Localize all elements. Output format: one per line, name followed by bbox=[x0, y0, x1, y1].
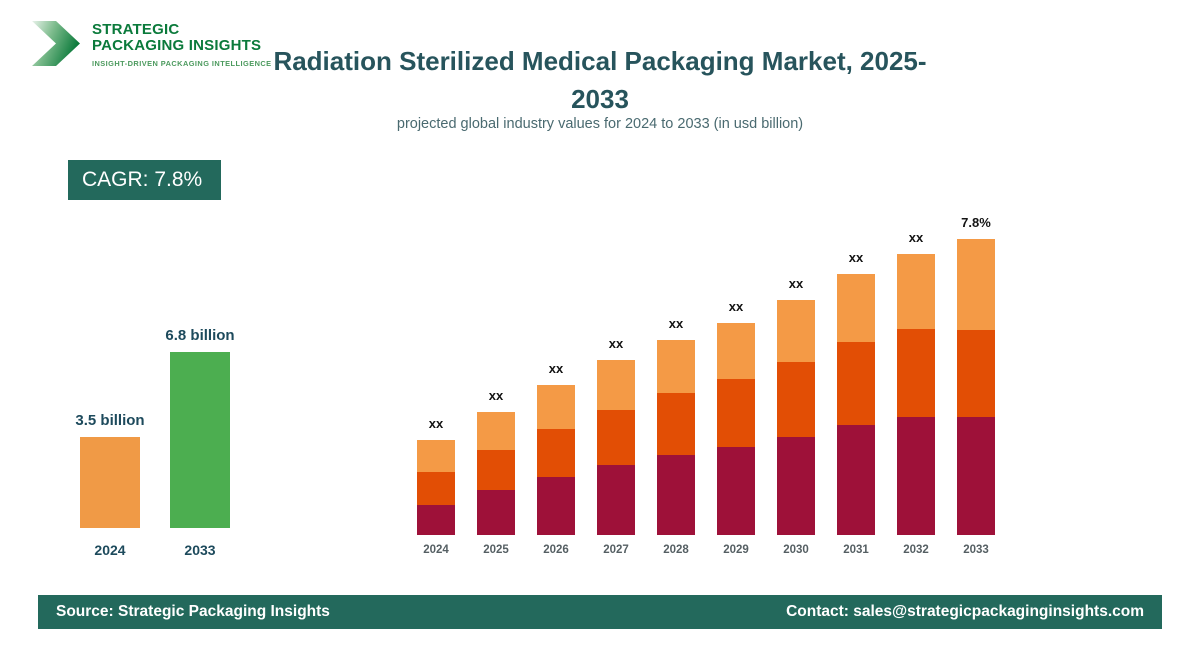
stacked-bar-2031 bbox=[837, 274, 875, 535]
bar-segment-segment-1-2025 bbox=[477, 490, 515, 535]
page-subtitle: projected global industry values for 202… bbox=[270, 116, 930, 132]
bar-segment-segment-1-2027 bbox=[597, 465, 635, 535]
bar-segment-segment-3-2024 bbox=[417, 440, 455, 472]
bar-segment-segment-3-2028 bbox=[657, 340, 695, 393]
bar-segment-segment-2-2025 bbox=[477, 450, 515, 490]
bar-segment-segment-3-2031 bbox=[837, 274, 875, 342]
bar-segment-segment-2-2033 bbox=[957, 330, 995, 417]
page-title: Radiation Sterilized Medical Packaging M… bbox=[270, 42, 930, 118]
bar-segment-segment-2-2031 bbox=[837, 342, 875, 425]
bar-segment-segment-2-2032 bbox=[897, 329, 935, 417]
mini-bar-year-2024: 2024 bbox=[80, 542, 140, 558]
stacked-bar-2027 bbox=[597, 360, 635, 535]
brand-name-line2: PACKAGING INSIGHTS bbox=[92, 38, 261, 54]
bar-segment-segment-2-2024 bbox=[417, 472, 455, 505]
bar-segment-segment-3-2027 bbox=[597, 360, 635, 410]
bar-segment-segment-1-2026 bbox=[537, 477, 575, 535]
stacked-bar-year-2029: 2029 bbox=[717, 544, 755, 556]
mini-bar-year-2033: 2033 bbox=[170, 542, 230, 558]
bar-segment-segment-2-2026 bbox=[537, 429, 575, 477]
stacked-bar-2028 bbox=[657, 340, 695, 535]
bar-segment-segment-1-2033 bbox=[957, 417, 995, 535]
bar-segment-segment-3-2026 bbox=[537, 385, 575, 429]
stacked-bar-2030 bbox=[777, 300, 815, 535]
stacked-bar-value-2028: xx bbox=[646, 316, 706, 331]
bar-segment-segment-1-2030 bbox=[777, 437, 815, 535]
stacked-bar-value-2031: xx bbox=[826, 250, 886, 265]
stacked-bar-year-2027: 2027 bbox=[597, 544, 635, 556]
infographic-root: STRATEGIC PACKAGING INSIGHTS INSIGHT-DRI… bbox=[0, 0, 1200, 650]
stacked-bar-2033 bbox=[957, 239, 995, 535]
bar-segment-segment-2-2027 bbox=[597, 410, 635, 465]
stacked-bar-value-2027: xx bbox=[586, 336, 646, 351]
bar-segment-segment-2-2029 bbox=[717, 379, 755, 447]
bar-segment-segment-2-2030 bbox=[777, 362, 815, 437]
stacked-bar-value-2025: xx bbox=[466, 388, 526, 403]
stacked-bar-2032 bbox=[897, 254, 935, 535]
bar-segment-segment-3-2032 bbox=[897, 254, 935, 329]
chevron-logo-icon bbox=[30, 18, 86, 70]
stacked-bar-value-2030: xx bbox=[766, 276, 826, 291]
stacked-bar-year-2024: 2024 bbox=[417, 544, 455, 556]
brand-tagline: INSIGHT-DRIVEN PACKAGING INTELLIGENCE bbox=[92, 59, 272, 68]
bar-segment-segment-3-2030 bbox=[777, 300, 815, 362]
stacked-bar-year-2032: 2032 bbox=[897, 544, 935, 556]
stacked-bar-year-2025: 2025 bbox=[477, 544, 515, 556]
cagr-badge-label: CAGR: 7.8% bbox=[82, 168, 202, 192]
stacked-bar-value-2029: xx bbox=[706, 299, 766, 314]
mini-bar-2033 bbox=[170, 352, 230, 528]
brand-name-line1: STRATEGIC bbox=[92, 22, 261, 38]
stacked-bar-2025 bbox=[477, 412, 515, 535]
stacked-bar-year-2031: 2031 bbox=[837, 544, 875, 556]
footer-contact: Contact: sales@strategicpackaginginsight… bbox=[786, 603, 1144, 621]
cagr-badge: CAGR: 7.8% bbox=[68, 160, 221, 200]
mini-bar-2024 bbox=[80, 437, 140, 528]
stacked-bar-year-2028: 2028 bbox=[657, 544, 695, 556]
stacked-bar-year-2026: 2026 bbox=[537, 544, 575, 556]
bar-segment-segment-1-2024 bbox=[417, 505, 455, 535]
footer-bar: Source: Strategic Packaging Insights Con… bbox=[38, 595, 1162, 629]
bar-segment-segment-3-2029 bbox=[717, 323, 755, 379]
bar-segment-segment-2-2028 bbox=[657, 393, 695, 455]
bar-segment-segment-3-2033 bbox=[957, 239, 995, 330]
bar-segment-segment-1-2028 bbox=[657, 455, 695, 535]
stacked-bar-year-2033: 2033 bbox=[957, 544, 995, 556]
brand-logo: STRATEGIC PACKAGING INSIGHTS INSIGHT-DRI… bbox=[30, 14, 245, 76]
bar-segment-segment-1-2029 bbox=[717, 447, 755, 535]
stacked-bar-2024 bbox=[417, 440, 455, 535]
bar-segment-segment-1-2032 bbox=[897, 417, 935, 535]
mini-bar-value-2024: 3.5 billion bbox=[50, 412, 170, 429]
endpoint-comparison-chart: 3.5 billion20246.8 billion2033 bbox=[50, 310, 280, 560]
stacked-bar-value-2033: 7.8% bbox=[946, 215, 1006, 230]
mini-bar-value-2033: 6.8 billion bbox=[140, 327, 260, 344]
footer-source: Source: Strategic Packaging Insights bbox=[56, 603, 330, 621]
bar-segment-segment-3-2025 bbox=[477, 412, 515, 450]
stacked-bar-value-2024: xx bbox=[406, 416, 466, 431]
stacked-bar-2029 bbox=[717, 323, 755, 535]
brand-wordmark: STRATEGIC PACKAGING INSIGHTS bbox=[92, 22, 261, 54]
stacked-bar-year-2030: 2030 bbox=[777, 544, 815, 556]
stacked-bar-value-2032: xx bbox=[886, 230, 946, 245]
stacked-bar-2026 bbox=[537, 385, 575, 535]
yearly-projection-chart: xx2024xx2025xx2026xx2027xx2028xx2029xx20… bbox=[405, 195, 1015, 560]
bar-segment-segment-1-2031 bbox=[837, 425, 875, 535]
stacked-bar-value-2026: xx bbox=[526, 361, 586, 376]
